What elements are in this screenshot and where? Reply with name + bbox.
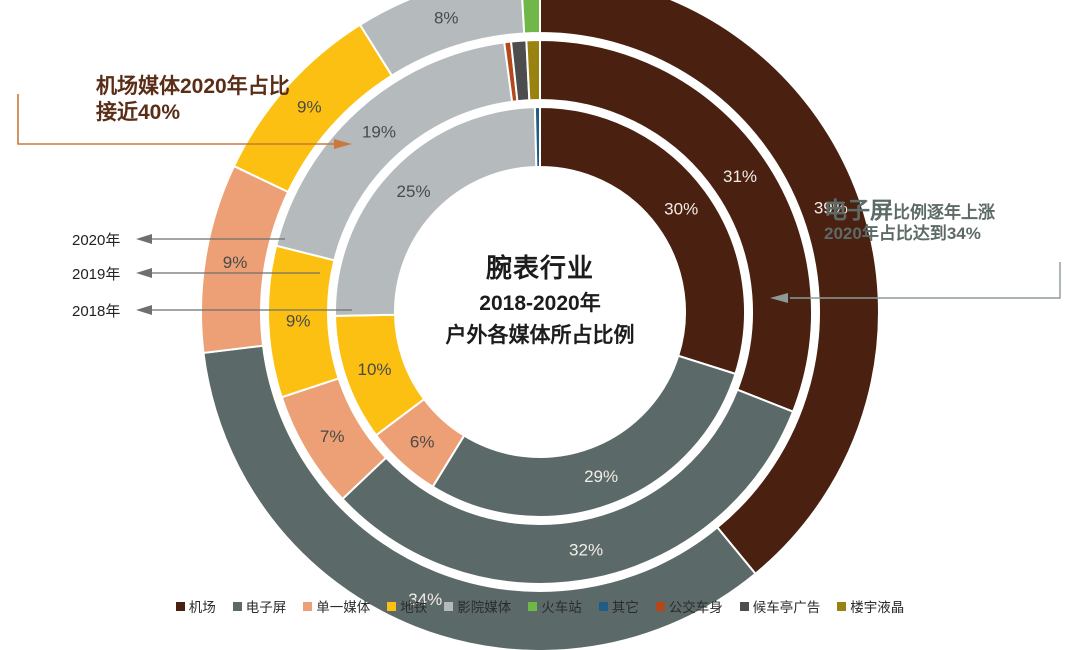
callout-right — [770, 262, 1060, 303]
annotation-left-line2: 接近40% — [96, 100, 290, 126]
segment-value-label: 25% — [397, 182, 431, 201]
annotation-right-line2: 2020年占比达到34% — [824, 224, 995, 245]
year-label-2018: 2018年 — [72, 300, 120, 321]
segment-value-label: 6% — [410, 432, 435, 451]
legend-swatch-icon — [599, 602, 608, 611]
legend-item: 电子屏 — [233, 596, 287, 616]
segment-value-label: 8% — [434, 9, 459, 28]
year-label-2019: 2019年 — [72, 263, 120, 284]
chart-legend: 机场电子屏单一媒体地铁影院媒体火车站其它公交车身候车亭广告楼宇液晶 — [0, 596, 1080, 616]
legend-swatch-icon — [656, 602, 665, 611]
legend-swatch-icon — [837, 602, 846, 611]
annotation-right-rest: 比例逐年上涨 — [893, 203, 995, 222]
segment-value-label: 9% — [223, 253, 248, 272]
legend-label: 公交车身 — [669, 596, 723, 616]
legend-item: 影院媒体 — [444, 596, 511, 616]
segment-value-label: 29% — [584, 467, 618, 486]
annotation-left: 机场媒体2020年占比 接近40% — [96, 74, 290, 125]
center-line-2: 2018-2020年 — [390, 287, 690, 317]
legend-item: 候车亭广告 — [740, 596, 821, 616]
legend-label: 机场 — [189, 596, 216, 616]
legend-swatch-icon — [176, 602, 185, 611]
legend-item: 单一媒体 — [303, 596, 370, 616]
annotation-right-line1: 电子屏比例逐年上涨 — [824, 196, 995, 224]
segment-value-label: 31% — [723, 167, 757, 186]
segment-value-label: 9% — [286, 312, 311, 331]
legend-item: 公交车身 — [656, 596, 723, 616]
legend-label: 候车亭广告 — [753, 596, 821, 616]
legend-item: 楼宇液晶 — [837, 596, 904, 616]
chart-center-title: 腕表行业 2018-2020年 户外各媒体所占比例 — [390, 248, 690, 349]
center-line-1: 腕表行业 — [390, 248, 690, 285]
segment-value-label: 30% — [664, 200, 698, 219]
legend-item: 机场 — [176, 596, 216, 616]
legend-label: 楼宇液晶 — [850, 596, 904, 616]
legend-swatch-icon — [233, 602, 242, 611]
legend-swatch-icon — [444, 602, 453, 611]
donut-segment — [521, 0, 540, 33]
segment-value-label: 7% — [320, 427, 345, 446]
legend-swatch-icon — [740, 602, 749, 611]
legend-label: 其它 — [612, 596, 639, 616]
legend-swatch-icon — [387, 602, 396, 611]
legend-swatch-icon — [303, 602, 312, 611]
legend-label: 影院媒体 — [457, 596, 511, 616]
center-line-3: 户外各媒体所占比例 — [390, 319, 690, 349]
chart-stage: 30%29%6%10%25%31%32%7%9%19%39%34%9%9%8% … — [0, 0, 1080, 650]
legend-item: 火车站 — [528, 596, 582, 616]
donut-segment — [535, 107, 540, 167]
legend-label: 电子屏 — [246, 596, 287, 616]
donut-segment — [526, 40, 540, 100]
legend-label: 单一媒体 — [316, 596, 370, 616]
segment-value-label: 9% — [297, 97, 322, 116]
segment-value-label: 19% — [362, 122, 396, 141]
annotation-left-line1: 机场媒体2020年占比 — [96, 74, 290, 100]
annotation-right-strong: 电子屏 — [824, 197, 893, 223]
annotation-right: 电子屏比例逐年上涨 2020年占比达到34% — [824, 196, 995, 245]
year-label-2020: 2020年 — [72, 229, 120, 250]
legend-swatch-icon — [528, 602, 537, 611]
legend-item: 地铁 — [387, 596, 427, 616]
segment-value-label: 10% — [358, 360, 392, 379]
legend-item: 其它 — [599, 596, 639, 616]
legend-label: 火车站 — [541, 596, 582, 616]
legend-label: 地铁 — [400, 596, 427, 616]
segment-value-label: 32% — [569, 541, 603, 560]
